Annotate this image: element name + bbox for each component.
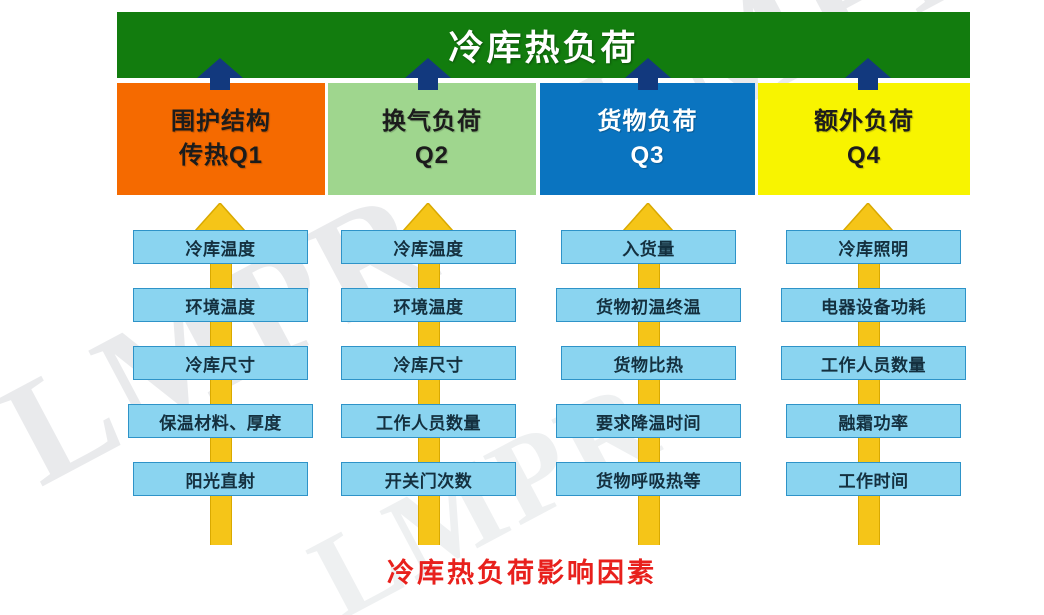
category-title-line1: 货物负荷 (598, 108, 698, 136)
up-arrow-icon-q3 (625, 58, 671, 90)
up-arrow-icon-q2 (405, 58, 451, 90)
factor-box[interactable]: 入货量 (561, 230, 736, 264)
category-title-line2: Q4 (847, 142, 881, 170)
diagram-canvas: 冷库热负荷 围护结构 传热Q1 换气负荷 Q2 货物负荷 Q3 额外负荷 Q4 (0, 0, 1044, 615)
diagram-caption: 冷库热负荷影响因素 (0, 551, 1044, 590)
category-box-q4[interactable]: 额外负荷 Q4 (758, 83, 970, 195)
yellow-up-arrow-icon-q1 (195, 203, 245, 233)
factor-box[interactable]: 环境温度 (341, 288, 516, 322)
factor-box[interactable]: 货物初温终温 (556, 288, 741, 322)
factor-label: 阳光直射 (186, 467, 256, 492)
factor-label: 冷库温度 (394, 235, 464, 260)
factor-label: 环境温度 (394, 293, 464, 318)
factor-box[interactable]: 冷库温度 (133, 230, 308, 264)
yellow-arrow-shaft-q1 (210, 230, 232, 545)
factor-box[interactable]: 冷库照明 (786, 230, 961, 264)
factor-label: 工作人员数量 (376, 409, 481, 434)
factor-box[interactable]: 冷库温度 (341, 230, 516, 264)
diagram-title-bar: 冷库热负荷 (117, 12, 970, 78)
yellow-arrow-shaft-q3 (638, 230, 660, 545)
factor-label: 入货量 (622, 235, 675, 260)
factor-box[interactable]: 开关门次数 (341, 462, 516, 496)
factor-label: 融霜功率 (839, 409, 909, 434)
category-box-q2[interactable]: 换气负荷 Q2 (328, 83, 536, 195)
factor-label: 货物初温终温 (596, 293, 701, 318)
factor-box[interactable]: 环境温度 (133, 288, 308, 322)
page-title: 冷库热负荷 (448, 20, 638, 71)
yellow-arrow-shaft-q4 (858, 230, 880, 545)
caption-label: 冷库热负荷影响因素 (387, 558, 657, 588)
category-title-line1: 换气负荷 (382, 108, 482, 136)
factor-label: 工作人员数量 (821, 351, 926, 376)
factor-label: 电器设备功耗 (821, 293, 926, 318)
factor-label: 工作时间 (839, 467, 909, 492)
factor-box[interactable]: 融霜功率 (786, 404, 961, 438)
yellow-up-arrow-icon-q3 (623, 203, 673, 233)
factor-box[interactable]: 冷库尺寸 (133, 346, 308, 380)
factor-label: 冷库温度 (186, 235, 256, 260)
factor-box[interactable]: 货物呼吸热等 (556, 462, 741, 496)
factor-label: 冷库照明 (839, 235, 909, 260)
factor-label: 开关门次数 (385, 467, 473, 492)
up-arrow-icon-q1 (197, 58, 243, 90)
category-title-line1: 额外负荷 (814, 108, 914, 136)
factor-label: 货物比热 (614, 351, 684, 376)
yellow-up-arrow-icon-q4 (843, 203, 893, 233)
factor-box[interactable]: 电器设备功耗 (781, 288, 966, 322)
category-box-q1[interactable]: 围护结构 传热Q1 (117, 83, 325, 195)
factor-box[interactable]: 要求降温时间 (556, 404, 741, 438)
factor-box[interactable]: 工作人员数量 (341, 404, 516, 438)
yellow-up-arrow-icon-q2 (403, 203, 453, 233)
factor-box[interactable]: 工作时间 (786, 462, 961, 496)
category-box-q3[interactable]: 货物负荷 Q3 (540, 83, 755, 195)
factor-box[interactable]: 保温材料、厚度 (128, 404, 313, 438)
up-arrow-icon-q4 (845, 58, 891, 90)
factor-box[interactable]: 阳光直射 (133, 462, 308, 496)
category-title-line1: 围护结构 (171, 108, 271, 136)
category-title-line2: 传热Q1 (179, 142, 263, 170)
category-title-line2: Q2 (415, 142, 449, 170)
factor-box[interactable]: 货物比热 (561, 346, 736, 380)
factor-label: 冷库尺寸 (186, 351, 256, 376)
factor-label: 保温材料、厚度 (159, 409, 282, 434)
factor-label: 环境温度 (186, 293, 256, 318)
factor-box[interactable]: 工作人员数量 (781, 346, 966, 380)
factor-label: 货物呼吸热等 (596, 467, 701, 492)
category-title-line2: Q3 (630, 142, 664, 170)
factor-label: 要求降温时间 (596, 409, 701, 434)
factor-box[interactable]: 冷库尺寸 (341, 346, 516, 380)
factor-label: 冷库尺寸 (394, 351, 464, 376)
yellow-arrow-shaft-q2 (418, 230, 440, 545)
